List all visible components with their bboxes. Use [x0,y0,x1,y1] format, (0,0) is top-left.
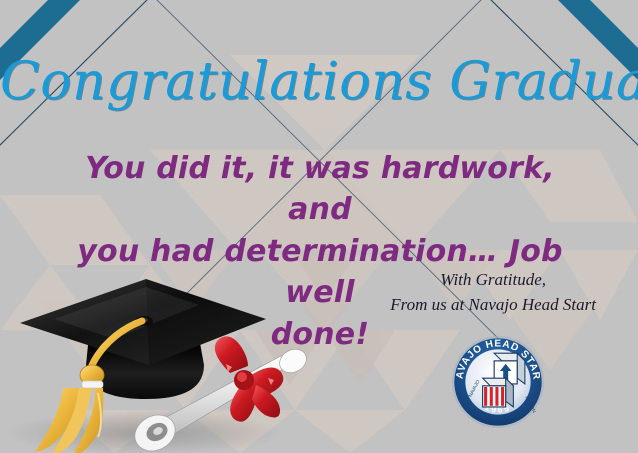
graduation-artwork [0,261,324,453]
signature-line-1: With Gratitude, [390,268,596,293]
signature-block: With Gratitude, From us at Navajo Head S… [390,268,596,317]
ribbon-bow [215,336,283,421]
page-title: Congratulations Graduates! [0,56,638,108]
signature-line-2: From us at Navajo Head Start [390,293,596,318]
congratulations-card: Congratulations Graduates! You did it, i… [0,0,638,453]
navajo-head-start-logo: NAVAJO HEAD START 1965 [450,334,546,430]
message-line-1: You did it, it was hardwork, and [62,148,578,231]
